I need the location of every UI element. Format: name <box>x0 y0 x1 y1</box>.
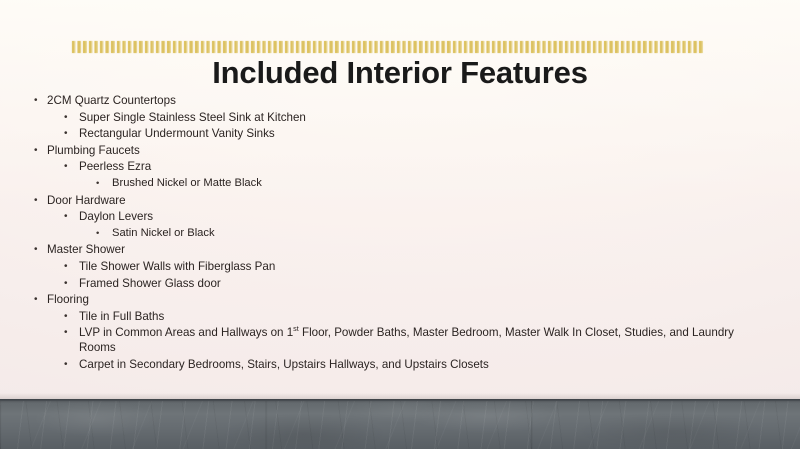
slate-floor-band <box>0 399 800 449</box>
list-item-label: Flooring <box>47 292 89 307</box>
list-item-label: Satin Nickel or Black <box>112 226 215 241</box>
list-item-label: Brushed Nickel or Matte Black <box>112 176 262 191</box>
bullet-marker: • <box>34 143 47 158</box>
list-item: • 2CM Quartz Countertops <box>0 93 800 108</box>
list-item: • Super Single Stainless Steel Sink at K… <box>0 110 800 125</box>
list-item-label: Master Shower <box>47 242 125 257</box>
list-item-label: Daylon Levers <box>79 209 153 224</box>
slide-title: Included Interior Features <box>0 55 800 91</box>
list-item-label: Rectangular Undermount Vanity Sinks <box>79 126 275 141</box>
features-list: • 2CM Quartz Countertops • Super Single … <box>0 93 800 374</box>
bullet-marker: • <box>64 209 79 224</box>
list-item-label: Super Single Stainless Steel Sink at Kit… <box>79 110 306 125</box>
bullet-marker: • <box>64 126 79 141</box>
list-item-text-pre: LVP in Common Areas and Hallways on 1 <box>79 326 293 339</box>
list-item: • Tile in Full Baths <box>0 309 800 324</box>
slate-tile-seams <box>0 399 800 449</box>
list-item: • Brushed Nickel or Matte Black <box>0 176 800 191</box>
list-item: • Framed Shower Glass door <box>0 276 800 291</box>
list-item: • Peerless Ezra <box>0 159 800 174</box>
bullet-marker: • <box>96 226 112 241</box>
list-item-label: LVP in Common Areas and Hallways on 1st … <box>79 325 769 355</box>
bullet-marker: • <box>34 242 47 257</box>
bullet-marker: • <box>96 176 112 191</box>
bullet-marker: • <box>34 292 47 307</box>
slate-top-edge <box>0 399 800 401</box>
list-item-label: Tile in Full Baths <box>79 309 164 324</box>
list-item-label: Door Hardware <box>47 193 126 208</box>
list-item-label: 2CM Quartz Countertops <box>47 93 176 108</box>
slide: Included Interior Features • 2CM Quartz … <box>0 0 800 449</box>
bullet-marker: • <box>64 325 79 340</box>
list-item: • Door Hardware <box>0 193 800 208</box>
bullet-marker: • <box>34 193 47 208</box>
bullet-marker: • <box>64 276 79 291</box>
list-item-label: Peerless Ezra <box>79 159 151 174</box>
list-item: • Tile Shower Walls with Fiberglass Pan <box>0 259 800 274</box>
list-item-label: Framed Shower Glass door <box>79 276 221 291</box>
list-item: • Daylon Levers <box>0 209 800 224</box>
list-item-label: Carpet in Secondary Bedrooms, Stairs, Up… <box>79 357 489 372</box>
list-item: • Plumbing Faucets <box>0 143 800 158</box>
list-item: • LVP in Common Areas and Hallways on 1s… <box>0 325 800 355</box>
list-item: • Rectangular Undermount Vanity Sinks <box>0 126 800 141</box>
gold-dashed-rule-highlight <box>72 41 704 53</box>
bullet-marker: • <box>64 159 79 174</box>
bullet-marker: • <box>64 309 79 324</box>
list-item: • Satin Nickel or Black <box>0 226 800 241</box>
list-item: • Flooring <box>0 292 800 307</box>
bullet-marker: • <box>34 93 47 108</box>
list-item-label: Tile Shower Walls with Fiberglass Pan <box>79 259 275 274</box>
list-item: • Carpet in Secondary Bedrooms, Stairs, … <box>0 357 800 372</box>
bullet-marker: • <box>64 259 79 274</box>
list-item-label: Plumbing Faucets <box>47 143 140 158</box>
bullet-marker: • <box>64 110 79 125</box>
list-item: • Master Shower <box>0 242 800 257</box>
bullet-marker: • <box>64 357 79 372</box>
